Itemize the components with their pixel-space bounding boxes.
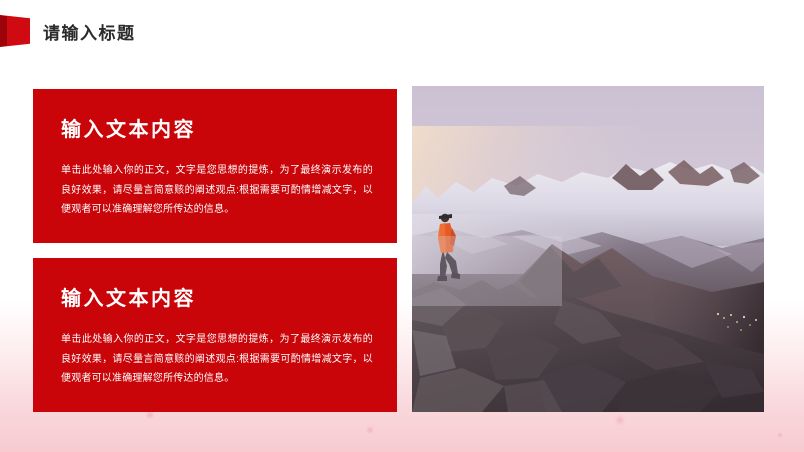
card-1-body: 单击此处输入你的正文，文字是您思想的提炼，为了最终演示发布的良好效果，请尽量言简… [61, 161, 373, 220]
text-card-1[interactable]: 输入文本内容 单击此处输入你的正文，文字是您思想的提炼，为了最终演示发布的良好效… [33, 89, 397, 243]
page-title: 请输入标题 [43, 19, 136, 44]
mountain-sunrise-hiker-photo [412, 86, 764, 412]
card-2-heading: 输入文本内容 [61, 288, 373, 310]
flag-fold-shape [0, 15, 7, 47]
card-2-body: 单击此处输入你的正文，文字是您思想的提炼，为了最终演示发布的良好效果，请尽量言简… [61, 330, 373, 389]
card-1-heading: 输入文本内容 [61, 119, 373, 141]
slide-header: 请输入标题 [0, 14, 136, 48]
slide-canvas: 请输入标题 输入文本内容 单击此处输入你的正文，文字是您思想的提炼，为了最终演示… [0, 0, 804, 452]
photo-illustration [412, 86, 764, 412]
text-card-2[interactable]: 输入文本内容 单击此处输入你的正文，文字是您思想的提炼，为了最终演示发布的良好效… [33, 258, 397, 412]
title-flag-icon [0, 15, 34, 47]
